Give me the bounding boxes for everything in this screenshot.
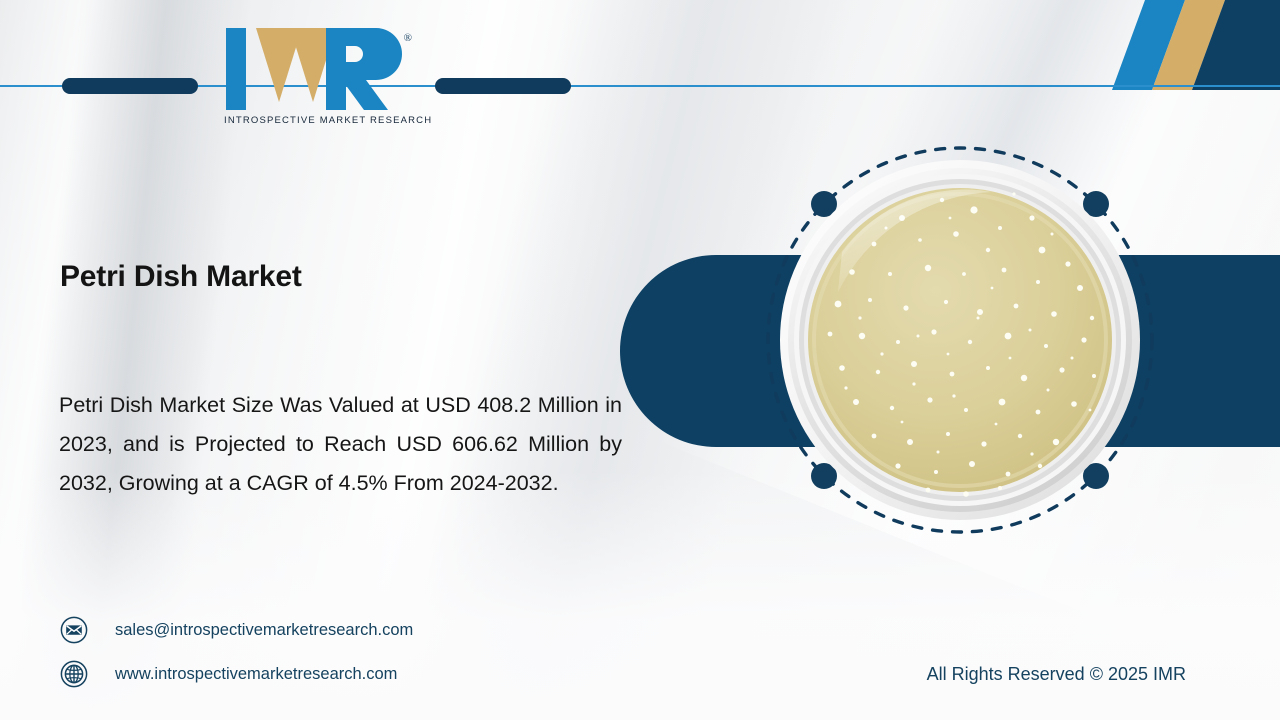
title-divider <box>60 338 340 347</box>
contact-row-email[interactable]: sales@introspectivemarketresearch.com <box>60 608 413 652</box>
header-dash-left <box>62 78 198 94</box>
registered-trademark-icon: ® <box>404 32 412 44</box>
contact-email-label: sales@introspectivemarketresearch.com <box>115 621 413 640</box>
envelope-icon <box>60 616 88 644</box>
page-title: Petri Dish Market <box>60 260 302 294</box>
contact-row-website[interactable]: www.introspectivemarketresearch.com <box>60 652 413 696</box>
market-summary-text: Petri Dish Market Size Was Valued at USD… <box>59 386 622 503</box>
divider-segment-gold <box>200 338 340 347</box>
header-dash-right <box>435 78 571 94</box>
imr-logotype-icon <box>224 28 404 110</box>
contact-list: sales@introspectivemarketresearch.com ww… <box>60 608 413 696</box>
imr-logo-tagline: INTROSPECTIVE MARKET RESEARCH <box>224 115 420 126</box>
banner-canvas: ® INTROSPECTIVE MARKET RESEARCH Petri Di… <box>0 0 1280 720</box>
divider-segment-blue <box>60 338 200 347</box>
imr-logo[interactable]: ® INTROSPECTIVE MARKET RESEARCH <box>224 28 420 140</box>
corner-stripes-decoration <box>1050 0 1280 90</box>
imr-logo-mark: ® <box>224 28 404 110</box>
contact-website-label: www.introspectivemarketresearch.com <box>115 665 397 684</box>
agar-medium <box>808 188 1112 492</box>
globe-icon <box>60 660 88 688</box>
petri-dish-graphic <box>742 122 1178 558</box>
petri-dish-illustration <box>742 122 1178 558</box>
footer-copyright: All Rights Reserved © 2025 IMR <box>927 664 1186 685</box>
